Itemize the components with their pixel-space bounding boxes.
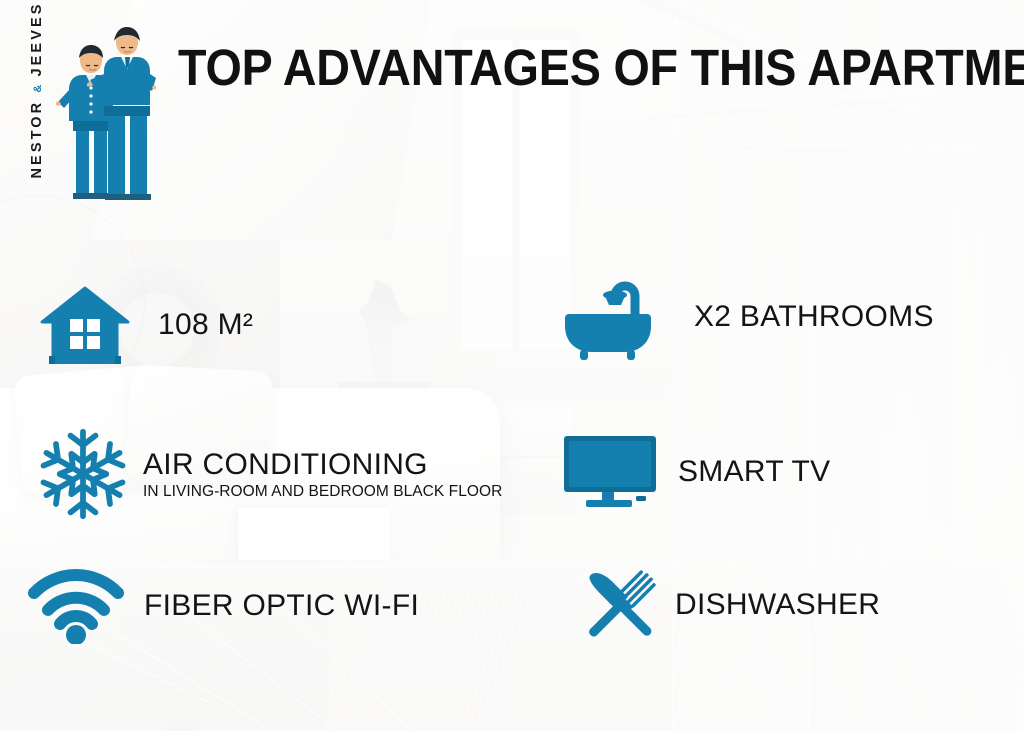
feature-text-smart-tv: SMART TV [678,455,830,489]
feature-item-air-conditioning[interactable]: AIR CONDITIONING IN LIVING-ROOM AND BEDR… [30,424,502,524]
television-icon [560,427,660,517]
feature-item-area[interactable]: 108 M² [30,283,253,367]
house-icon [30,283,140,367]
snowflake-icon [30,424,135,524]
feature-label-smart-tv: SMART TV [678,455,830,489]
feature-label-bathrooms: X2 BATHROOMS [694,300,934,334]
feature-text-bathrooms: X2 BATHROOMS [694,300,934,334]
feature-item-bathrooms[interactable]: X2 BATHROOMS [558,275,934,359]
feature-sublabel-air-conditioning: IN LIVING-ROOM AND BEDROOM BLACK FLOOR [143,483,502,501]
fork-knife-icon [572,557,667,652]
features-grid: 108 M² [0,0,1024,731]
feature-label-dishwasher: DISHWASHER [675,588,880,622]
feature-text-area: 108 M² [158,308,253,342]
feature-text-air-conditioning: AIR CONDITIONING IN LIVING-ROOM AND BEDR… [143,448,502,501]
feature-label-area: 108 M² [158,308,253,342]
feature-item-dishwasher[interactable]: DISHWASHER [572,557,880,652]
wifi-icon [26,561,126,651]
feature-text-dishwasher: DISHWASHER [675,588,880,622]
feature-label-air-conditioning: AIR CONDITIONING [143,448,502,482]
bathtub-shower-icon [558,275,668,359]
feature-item-smart-tv[interactable]: SMART TV [560,427,830,517]
feature-label-wifi: FIBER OPTIC WI-FI [144,589,419,623]
feature-item-wifi[interactable]: FIBER OPTIC WI-FI [26,561,419,651]
feature-text-wifi: FIBER OPTIC WI-FI [144,589,419,623]
